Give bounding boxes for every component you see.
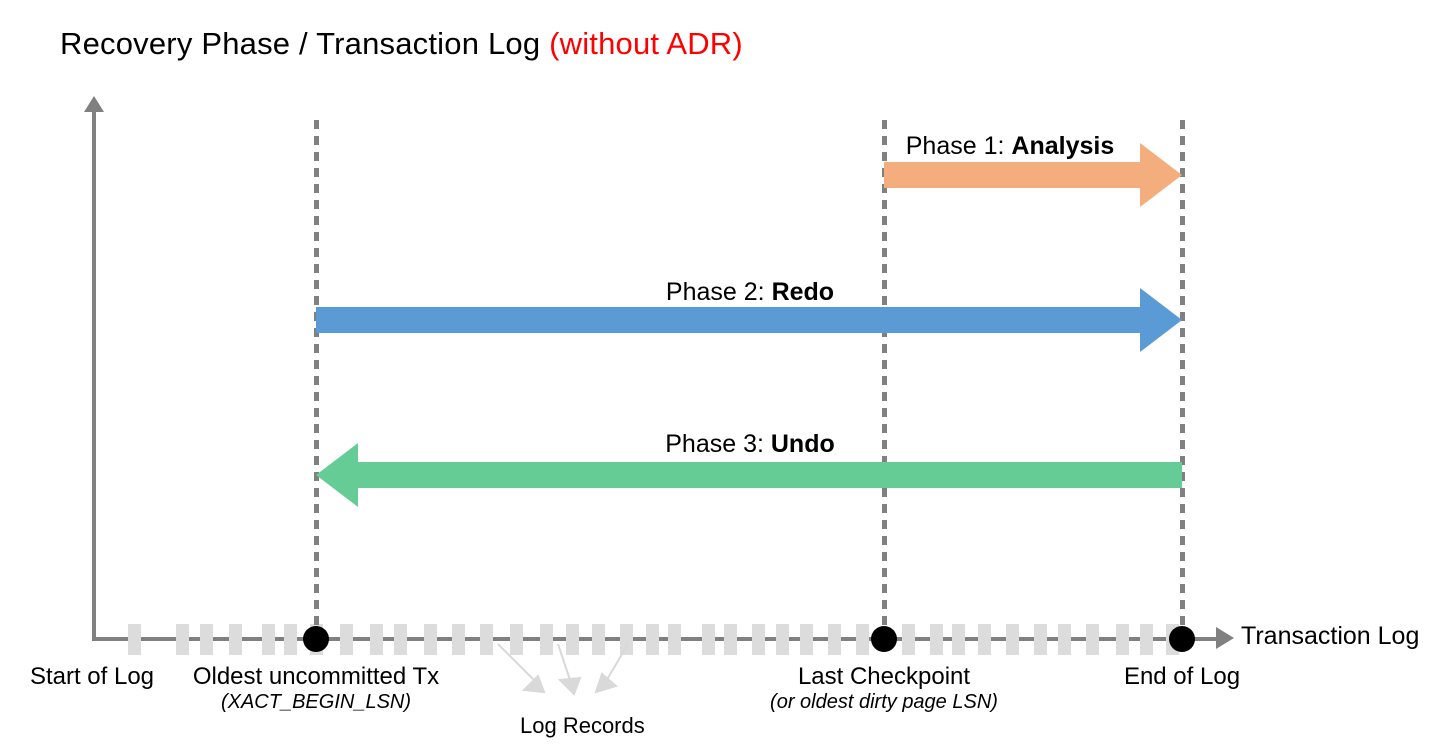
marker-caption-oldest-uncommitted-tx: Oldest uncommitted Tx(XACT_BEGIN_LSN) <box>146 664 486 713</box>
arrow-label-prefix-phase-3-undo: Phase 3: <box>665 430 771 458</box>
log-record-block <box>394 624 407 655</box>
log-record-block <box>370 624 383 655</box>
log-record-block <box>978 624 991 655</box>
arrow-label-phase-3-undo: Phase 3: Undo <box>540 430 960 459</box>
log-record-block <box>800 624 813 655</box>
y-axis-arrowhead-icon <box>84 96 104 112</box>
marker-dot-last-checkpoint <box>871 626 897 652</box>
arrow-label-name-phase-1-analysis: Analysis <box>1011 132 1114 160</box>
marker-label-oldest-uncommitted-tx: Oldest uncommitted Tx <box>193 663 439 690</box>
x-axis-arrowhead-icon <box>1216 627 1234 649</box>
log-record-block <box>424 624 437 655</box>
log-record-block <box>340 624 353 655</box>
arrow-label-phase-1-analysis: Phase 1: Analysis <box>800 132 1220 161</box>
log-record-block <box>952 624 965 655</box>
log-record-block <box>284 624 297 655</box>
log-records-label: Log Records <box>520 713 645 739</box>
marker-dashed-line-oldest-uncommitted-tx <box>314 120 319 638</box>
arrow-label-prefix-phase-2-redo: Phase 2: <box>666 278 772 306</box>
log-record-block <box>262 624 275 655</box>
arrow-label-phase-2-redo: Phase 2: Redo <box>540 278 960 307</box>
arrow-label-name-phase-3-undo: Undo <box>771 430 835 458</box>
marker-sublabel-last-checkpoint: (or oldest dirty page LSN) <box>769 691 999 713</box>
log-record-block <box>1140 624 1153 655</box>
log-record-block <box>229 624 242 655</box>
log-record-block <box>452 624 465 655</box>
log-record-block <box>902 624 915 655</box>
marker-dot-oldest-uncommitted-tx <box>303 626 329 652</box>
title-main: Recovery Phase / Transaction Log <box>60 26 549 61</box>
page-title: Recovery Phase / Transaction Log (withou… <box>60 26 743 62</box>
diagram-canvas: Recovery Phase / Transaction Log (withou… <box>0 0 1450 756</box>
log-record-block <box>176 624 189 655</box>
arrow-label-name-phase-2-redo: Redo <box>772 278 835 306</box>
log-record-block <box>776 624 789 655</box>
marker-sublabel-oldest-uncommitted-tx: (XACT_BEGIN_LSN) <box>146 691 486 713</box>
log-record-block <box>1116 624 1129 655</box>
log-records-leader-arrows-icon <box>480 640 710 720</box>
marker-label-end-of-log: End of Log <box>1124 663 1240 690</box>
log-record-block <box>128 624 141 655</box>
y-axis-line <box>92 108 96 640</box>
x-axis-label: Transaction Log <box>1241 622 1419 651</box>
marker-dot-end-of-log <box>1169 626 1195 652</box>
log-record-block <box>752 624 765 655</box>
marker-label-last-checkpoint: Last Checkpoint <box>798 663 970 690</box>
title-accent: (without ADR) <box>549 26 743 61</box>
log-record-block <box>1006 624 1019 655</box>
arrow-label-prefix-phase-1-analysis: Phase 1: <box>906 132 1012 160</box>
log-record-block <box>930 624 943 655</box>
log-record-block <box>724 624 737 655</box>
marker-caption-end-of-log: End of Log <box>1012 664 1352 691</box>
log-record-block <box>856 624 869 655</box>
log-record-block <box>828 624 841 655</box>
log-record-block <box>1086 624 1099 655</box>
log-record-block <box>200 624 213 655</box>
marker-label-start-of-log: Start of Log <box>30 663 154 690</box>
log-record-block <box>1058 624 1071 655</box>
log-record-block <box>1034 624 1047 655</box>
marker-caption-last-checkpoint: Last Checkpoint(or oldest dirty page LSN… <box>769 664 999 713</box>
